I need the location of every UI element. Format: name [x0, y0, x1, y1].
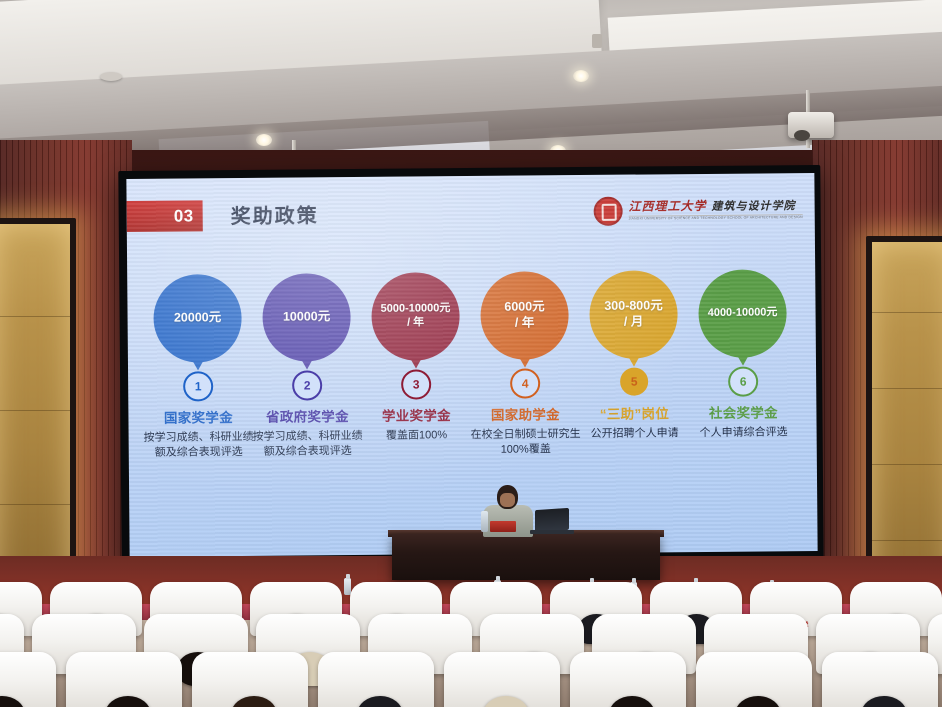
backlit-wall-panel-left — [0, 218, 76, 602]
balloon-row: 20000元110000元25000-10000元/ 年36000元/ 年430… — [149, 269, 798, 403]
balloon-item-6: 4000-10000元6 — [694, 269, 791, 397]
ceiling-projector — [788, 112, 834, 138]
logo-emblem-icon — [593, 197, 622, 226]
policy-description: 覆盖面100% — [358, 428, 476, 444]
logo-english-name: JIANGXI UNIVERSITY OF SCIENCE AND TECHNO… — [629, 214, 803, 221]
policy-caption-1: 国家奖学金按学习成绩、科研业绩额及综合表现评选 — [139, 406, 257, 461]
balloon-number-badge: 2 — [292, 370, 322, 400]
balloon-tail — [625, 351, 643, 367]
smoke-detector-icon — [100, 72, 122, 81]
balloon-amount: 20000元 — [174, 310, 221, 326]
policy-heading: 国家助学金 — [466, 403, 584, 424]
presenter-face — [500, 493, 515, 507]
balloon-number-badge: 1 — [183, 371, 213, 401]
audience-seating: 赣南科科技学学院赣南科科技学学院赣南科科技学学院赣南科赣南科科技学学院赣南科科技… — [0, 566, 942, 707]
balloon-bubble: 6000元/ 年 — [480, 271, 569, 360]
policy-description: 个人申请综合评选 — [685, 425, 803, 441]
section-number: 03 — [174, 206, 194, 226]
balloon-tail — [298, 353, 316, 369]
projection-screen[interactable]: 03 奖助政策 江西理工大学建筑与设计学院 JIANGXI UNIVERSITY… — [126, 173, 817, 557]
balloon-item-5: 300-800元/ 月5 — [585, 270, 682, 396]
balloon-tail — [407, 352, 425, 368]
policy-description: 按学习成绩、科研业绩额及综合表现评选 — [249, 429, 367, 460]
balloon-amount: 4000-10000元 — [708, 306, 778, 320]
balloon-amount: 6000元/ 年 — [504, 300, 545, 332]
ceiling-downlight — [573, 70, 589, 82]
water-bottle — [481, 511, 488, 532]
balloon-bubble: 20000元 — [153, 274, 242, 363]
podium-nameplate — [490, 521, 516, 532]
policy-description: 按学习成绩、科研业绩额及综合表现评选 — [140, 430, 258, 461]
balloon-amount: 10000元 — [283, 309, 330, 325]
policy-heading: 国家奖学金 — [139, 406, 257, 427]
balloon-bubble: 300-800元/ 月 — [589, 270, 678, 359]
ceiling-downlight — [256, 134, 272, 146]
logo-university-name: 江西理工大学 — [628, 199, 706, 214]
balloon-item-3: 5000-10000元/ 年3 — [367, 272, 464, 400]
balloon-number-badge: 5 — [620, 367, 648, 395]
balloon-item-2: 10000元2 — [258, 273, 355, 401]
policy-caption-3: 学业奖学金覆盖面100% — [357, 404, 475, 444]
slide-title: 奖助政策 — [231, 199, 319, 229]
balloon-bubble: 5000-10000元/ 年 — [371, 272, 460, 361]
policy-description: 在校全日制硕士研究生100%覆盖 — [467, 427, 585, 458]
balloon-number-badge: 4 — [510, 368, 540, 398]
laptop — [535, 508, 569, 532]
balloon-amount: 300-800元/ 月 — [604, 299, 663, 331]
balloon-amount: 5000-10000元/ 年 — [381, 302, 451, 330]
policy-caption-6: 社会奖学金个人申请综合评选 — [684, 401, 802, 441]
sprinkler-icon — [592, 34, 602, 48]
balloon-number-badge: 3 — [401, 369, 431, 399]
section-number-badge: 03 — [127, 200, 203, 232]
balloon-tail — [734, 350, 752, 366]
policy-caption-4: 国家助学金在校全日制硕士研究生100%覆盖 — [466, 403, 584, 458]
balloon-number-badge: 6 — [728, 367, 758, 397]
university-logo: 江西理工大学建筑与设计学院 JIANGXI UNIVERSITY OF SCIE… — [593, 195, 802, 226]
balloon-tail — [189, 354, 207, 370]
policy-description: 公开招聘个人申请 — [576, 426, 694, 442]
balloon-bubble: 4000-10000元 — [698, 269, 787, 358]
balloon-tail — [516, 351, 534, 367]
lecture-hall-photo: 03 奖助政策 江西理工大学建筑与设计学院 JIANGXI UNIVERSITY… — [0, 0, 942, 707]
policy-heading: 社会奖学金 — [684, 401, 802, 422]
balloon-bubble: 10000元 — [262, 273, 351, 362]
balloon-item-4: 6000元/ 年4 — [476, 271, 573, 399]
balloon-item-1: 20000元1 — [149, 274, 246, 402]
logo-school-name: 建筑与设计学院 — [711, 201, 795, 214]
laptop-base — [530, 530, 574, 534]
policy-caption-5: “三助”岗位公开招聘个人申请 — [575, 402, 693, 442]
policy-heading: 学业奖学金 — [357, 404, 475, 425]
policy-heading: 省政府奖学金 — [248, 405, 366, 426]
policy-caption-2: 省政府奖学金按学习成绩、科研业绩额及综合表现评选 — [248, 405, 366, 460]
policy-heading: “三助”岗位 — [575, 402, 693, 423]
